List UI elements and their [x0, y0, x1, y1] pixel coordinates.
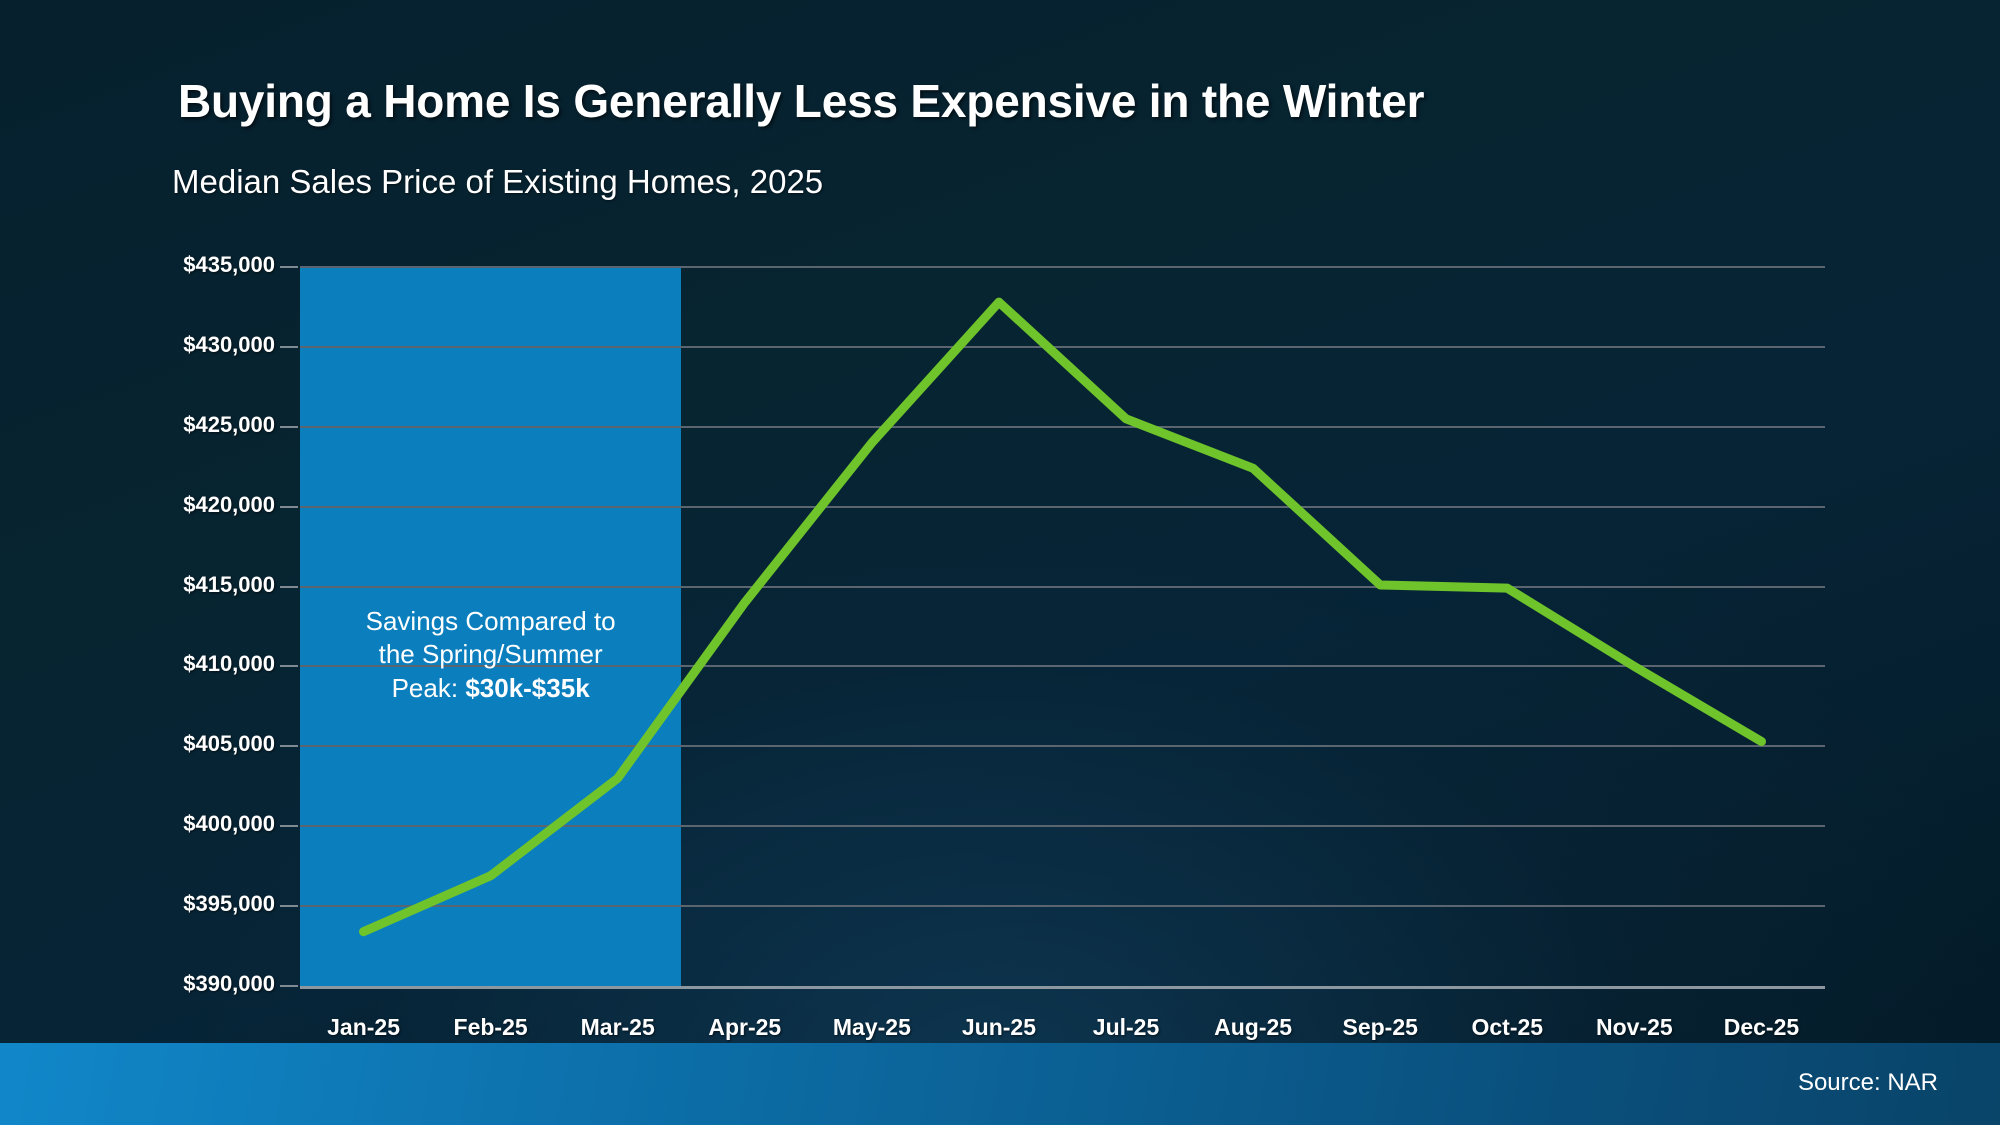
y-axis-label: $395,000	[125, 891, 275, 917]
y-axis-tick	[280, 266, 298, 268]
y-axis-label: $425,000	[125, 412, 275, 438]
x-axis-label: Dec-25	[1671, 1014, 1851, 1041]
annotation-savings-value: $30k-$35k	[465, 673, 589, 703]
y-axis-tick	[280, 985, 298, 987]
annotation-line-2: the Spring/Summer	[379, 639, 603, 669]
annotation-line-1: Savings Compared to	[366, 606, 616, 636]
y-axis-tick	[280, 665, 298, 667]
axis-baseline	[300, 986, 1825, 989]
y-axis-label: $400,000	[125, 811, 275, 837]
y-axis-tick	[280, 586, 298, 588]
y-axis-tick	[280, 506, 298, 508]
annotation-line-3-prefix: Peak:	[392, 673, 466, 703]
y-axis-tick	[280, 825, 298, 827]
line-chart: $390,000$395,000$400,000$405,000$410,000…	[300, 267, 1825, 986]
y-axis-label: $430,000	[125, 332, 275, 358]
y-axis-tick	[280, 346, 298, 348]
y-axis-tick	[280, 905, 298, 907]
page-subtitle: Median Sales Price of Existing Homes, 20…	[172, 163, 823, 201]
y-axis-label: $410,000	[125, 651, 275, 677]
page-title: Buying a Home Is Generally Less Expensiv…	[178, 74, 1424, 128]
y-axis-label: $390,000	[125, 971, 275, 997]
footer-bar: Source: NAR	[0, 1043, 2000, 1125]
y-axis-label: $415,000	[125, 572, 275, 598]
y-axis-label: $420,000	[125, 492, 275, 518]
y-axis-label: $435,000	[125, 252, 275, 278]
savings-annotation: Savings Compared to the Spring/Summer Pe…	[326, 605, 656, 705]
slide-canvas: Buying a Home Is Generally Less Expensiv…	[0, 0, 2000, 1125]
y-axis-tick	[280, 426, 298, 428]
y-axis-label: $405,000	[125, 731, 275, 757]
source-label: Source: NAR	[1798, 1069, 1938, 1097]
y-axis-tick	[280, 745, 298, 747]
